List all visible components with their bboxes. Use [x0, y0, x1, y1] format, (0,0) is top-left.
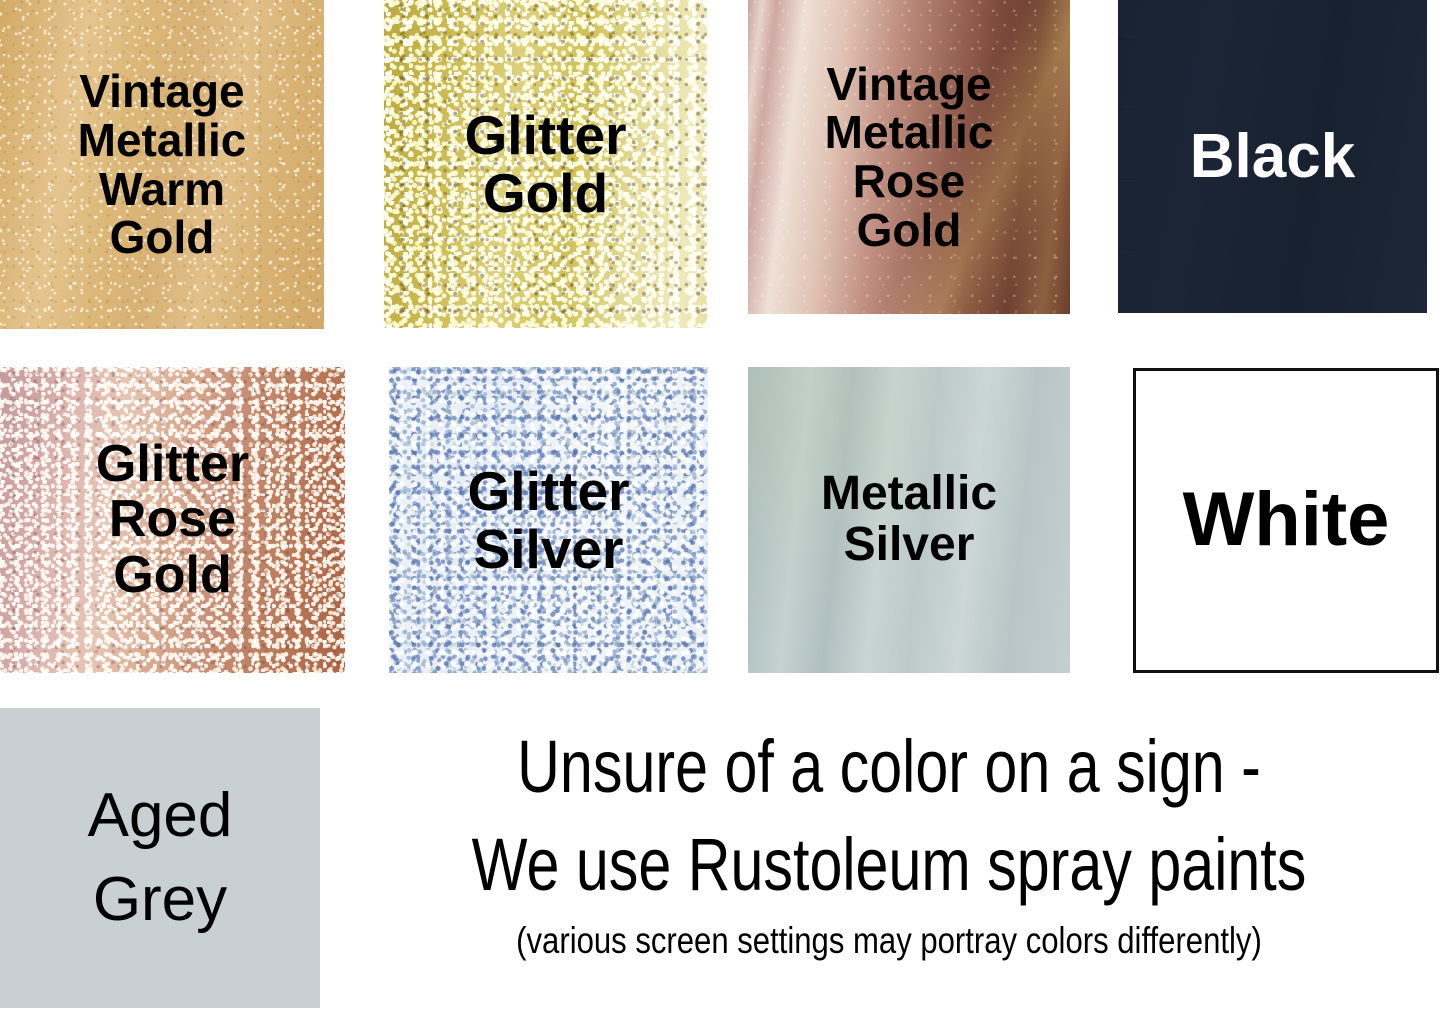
swatch-label-glitter-rose-gold: Glitter Rose Gold — [96, 437, 249, 602]
swatch-label-aged-grey: Aged Grey — [88, 774, 233, 941]
swatch-label-black: Black — [1190, 124, 1355, 190]
swatch-label-white: White — [1183, 480, 1390, 561]
swatch-black[interactable]: Black — [1118, 0, 1427, 313]
color-swatch-sheet: Vintage Metallic Warm Gold Glitter Gold … — [0, 0, 1445, 1030]
swatch-label-vintage-metallic-warm-gold: Vintage Metallic Warm Gold — [78, 67, 247, 262]
note-line-question: Unsure of a color on a sign - — [446, 730, 1332, 804]
note-line-brand: We use Rustoleum spray paints — [446, 828, 1332, 902]
color-disclaimer-note: Unsure of a color on a sign - We use Rus… — [335, 730, 1443, 959]
swatch-glitter-silver[interactable]: Glitter Silver — [389, 367, 708, 673]
swatch-aged-grey[interactable]: Aged Grey — [0, 708, 320, 1008]
swatch-label-metallic-silver: Metallic Silver — [821, 469, 997, 571]
swatch-label-glitter-silver: Glitter Silver — [468, 462, 630, 579]
swatch-label-vintage-metallic-rose-gold: Vintage Metallic Rose Gold — [825, 60, 994, 255]
swatch-label-glitter-gold: Glitter Gold — [465, 106, 627, 223]
swatch-glitter-rose-gold[interactable]: Glitter Rose Gold — [0, 367, 345, 673]
swatch-white[interactable]: White — [1133, 368, 1439, 673]
swatch-vintage-metallic-rose-gold[interactable]: Vintage Metallic Rose Gold — [748, 0, 1070, 314]
swatch-glitter-gold[interactable]: Glitter Gold — [384, 0, 707, 328]
swatch-metallic-silver[interactable]: Metallic Silver — [748, 367, 1070, 673]
note-line-disclaimer: (various screen settings may portray col… — [424, 922, 1355, 959]
swatch-vintage-metallic-warm-gold[interactable]: Vintage Metallic Warm Gold — [0, 0, 324, 329]
